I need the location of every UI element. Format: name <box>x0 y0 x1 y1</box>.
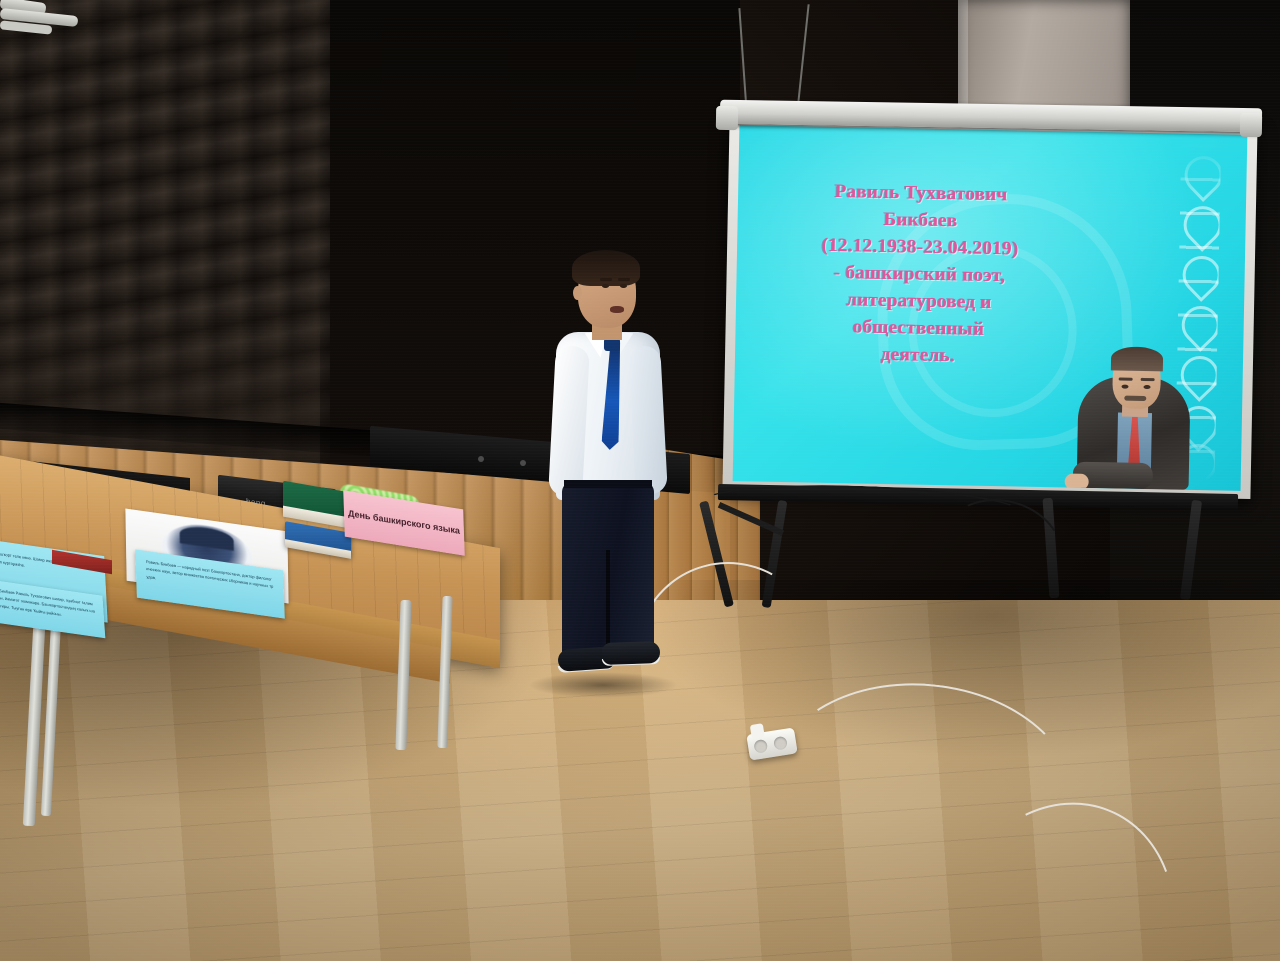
presenter-brow-right <box>618 278 630 281</box>
screen-housing-cap-left <box>716 106 738 130</box>
portrait-brow-right <box>1141 378 1155 381</box>
presenter-ear <box>573 286 582 300</box>
portrait-brow-left <box>1119 377 1133 380</box>
presenter-belt <box>564 480 652 488</box>
projection-screen: Равиль Тухватович Бикбаев (12.12.1938-23… <box>716 104 1264 504</box>
cyan-handout-left-text: Бикбаев Равиль Тухватович шағир, әҙәбиәт… <box>0 587 97 624</box>
screen-housing-cap-right <box>1240 113 1262 137</box>
portrait-eye-left <box>1121 385 1128 389</box>
equipment-knob <box>478 456 484 462</box>
slide-text-block: Равиль Тухватович Бикбаев (12.12.1938-23… <box>753 177 1087 372</box>
presenter-shoe-right <box>602 641 661 665</box>
portrait-hand <box>1065 473 1089 489</box>
presenter-brow-left <box>600 278 612 281</box>
presenter-sleeve-right <box>628 345 668 494</box>
power-plug <box>750 723 765 739</box>
portrait-printout-hair <box>179 524 234 551</box>
presenter-eye-right <box>620 284 627 288</box>
boy-presenter <box>540 250 680 690</box>
photo-scene: benq Башҡорт теле көнө. Шағир ижады менә… <box>0 0 1280 961</box>
power-strip-socket-hole <box>753 739 768 754</box>
slide-portrait-photo <box>1077 308 1192 490</box>
power-strip-socket-hole <box>773 736 788 751</box>
portrait-hair <box>1111 346 1163 371</box>
portrait-moustache <box>1124 396 1146 401</box>
equipment-knob <box>520 460 526 466</box>
portrait-eye-right <box>1143 385 1150 389</box>
presenter-mouth <box>610 306 624 313</box>
presenter-eye-left <box>602 284 609 288</box>
presentation-slide: Равиль Тухватович Бикбаев (12.12.1938-23… <box>733 125 1248 491</box>
